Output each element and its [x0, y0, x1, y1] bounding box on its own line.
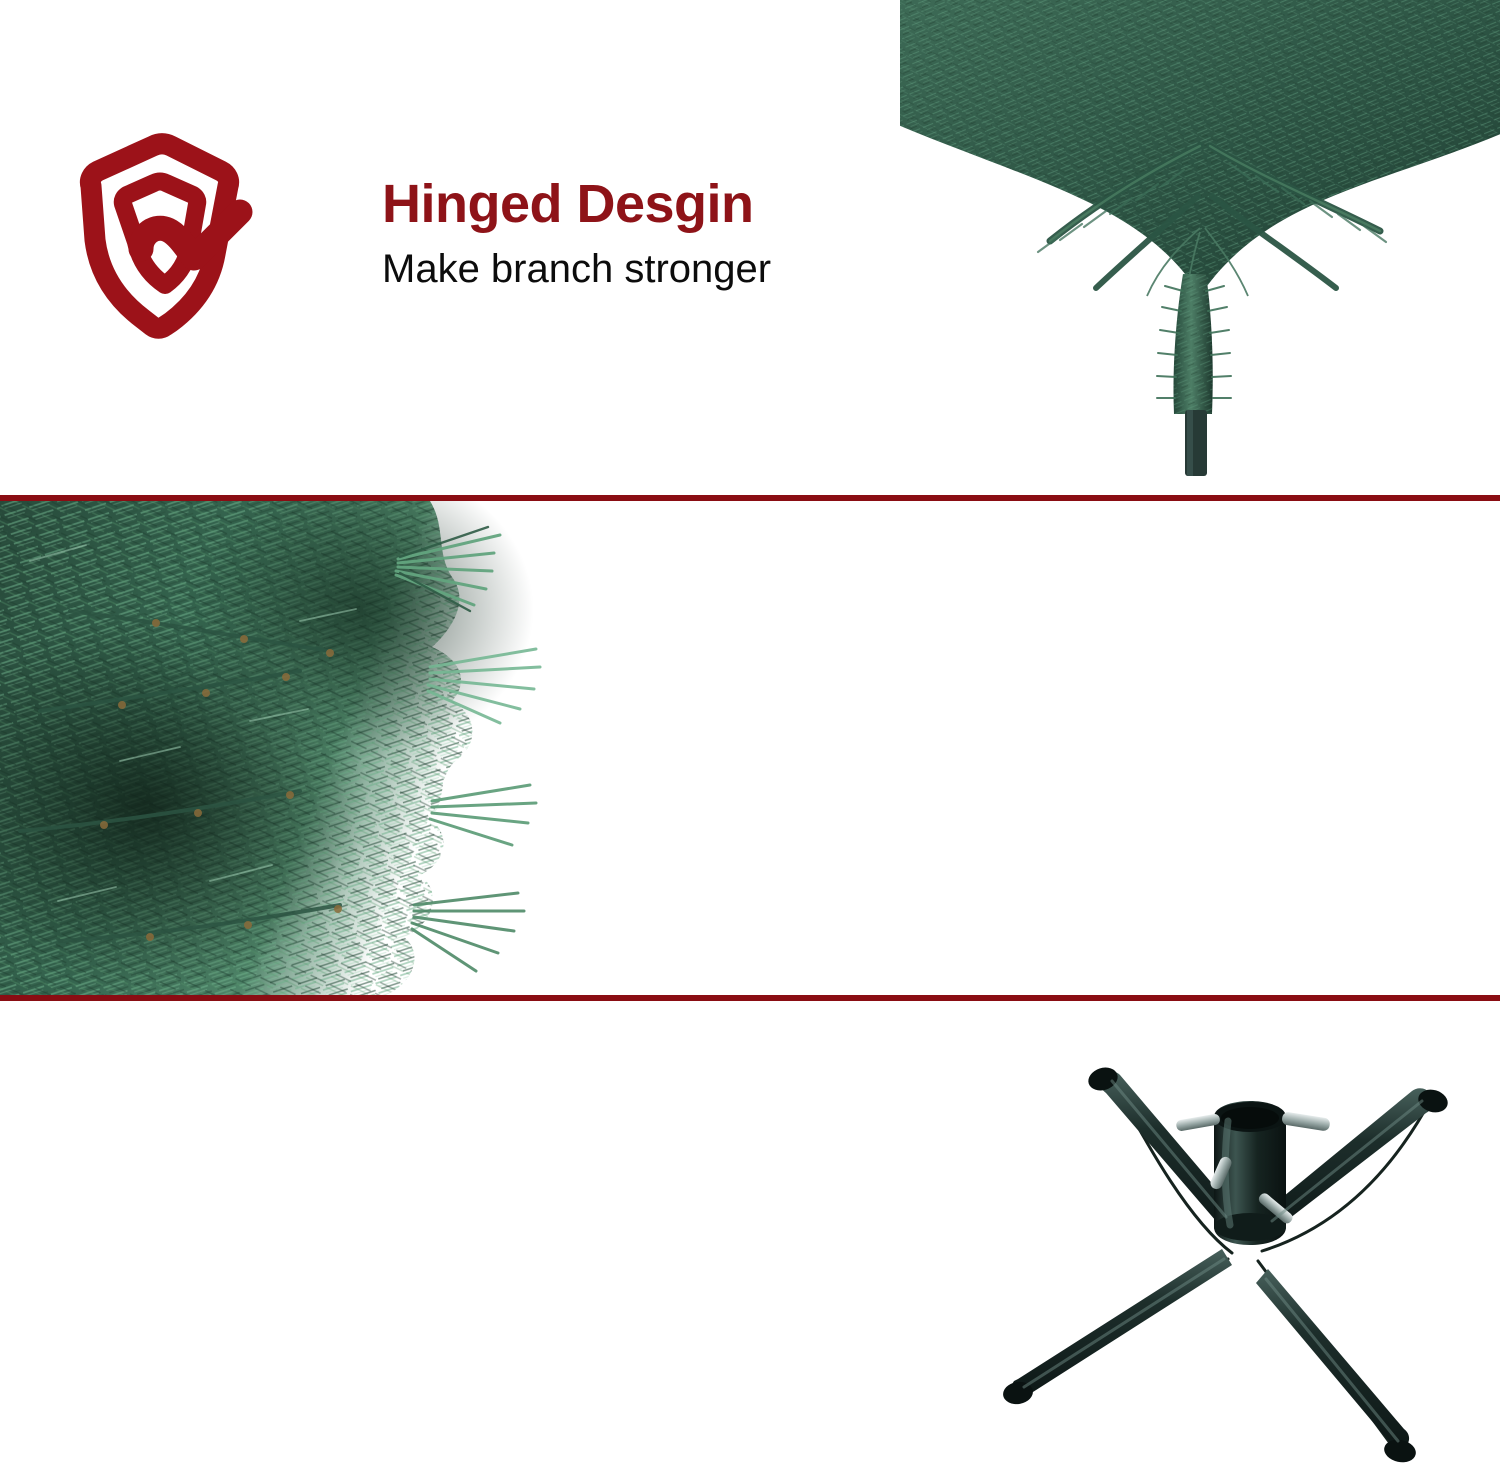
- shield-check-icon: [55, 132, 275, 347]
- feature-section-pvc: Premium PVC Material Safe & Fire-retarda…: [0, 501, 1500, 995]
- hinged-title: Hinged Desgin: [382, 176, 942, 233]
- product-feature-infographic: Hinged Desgin Make branch stronger: [0, 0, 1500, 1466]
- christmas-tree-tip-photo: [900, 0, 1500, 495]
- pine-branch-closeup-photo: [0, 501, 580, 995]
- feature-section-base: Foldable Metal Base provides strong supp…: [0, 1001, 1500, 1466]
- feature-section-hinged: Hinged Desgin Make branch stronger: [0, 0, 1500, 495]
- hinged-subtitle: Make branch stronger: [382, 247, 942, 292]
- foldable-metal-stand-photo: [1000, 1021, 1500, 1466]
- hinged-text-block: Hinged Desgin Make branch stronger: [382, 176, 942, 291]
